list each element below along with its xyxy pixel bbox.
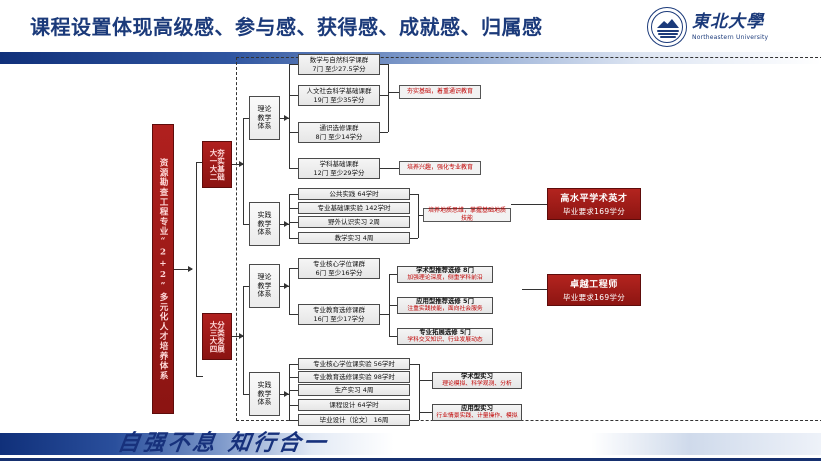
course-box: 生产实习 4周 — [298, 384, 410, 396]
elective-module-box: 学术型推荐选修 8门 加强理论深度，侧重学科前沿 — [397, 266, 493, 283]
outcome-sub: 毕业要求169学分 — [563, 292, 625, 303]
connector — [410, 194, 418, 195]
course-box: 公共实践 64学时 — [298, 188, 410, 200]
connector — [380, 95, 388, 96]
footer-motto: 自强不息 知行合一 — [116, 425, 331, 457]
elective-module-box: 专业拓展选修 5门 学科交叉知识、行业发展动态 — [397, 328, 493, 345]
stage-2-col-right: 大三大四 — [210, 321, 218, 353]
course-box: 教学实习 4周 — [298, 232, 410, 244]
course-group-box: 学科基础课群 12门 至少29学分 — [298, 158, 380, 179]
system-label: 实践 教学 体系 — [258, 381, 272, 407]
connector — [289, 377, 298, 378]
connector — [289, 194, 290, 238]
course-group-box: 数学与自然科学课群 7门 至少27.5学分 — [298, 54, 380, 75]
system-theory-stage1: 理论 教学 体系 — [249, 96, 280, 140]
connector — [289, 390, 298, 391]
module-note: 行业情景实践、计量操作、模拟 — [436, 413, 517, 421]
outcome-sub: 毕业要求169学分 — [563, 206, 625, 217]
system-theory-stage2: 理论 教学 体系 — [249, 264, 280, 308]
connector — [289, 168, 298, 169]
system-label: 实践 教学 体系 — [258, 211, 272, 237]
annotation-box: 夯实基础，着重通识教育 — [399, 85, 481, 99]
connector — [389, 274, 397, 275]
connector — [289, 222, 298, 223]
connector-arrow — [188, 266, 193, 272]
connector — [388, 92, 399, 93]
course-box: 专业教育选修课实验 98学时 — [298, 371, 410, 383]
connector — [419, 412, 432, 413]
connector — [522, 289, 547, 290]
course-box: 专业基础课实验 142学时 — [298, 202, 410, 214]
connector — [196, 162, 197, 376]
course-group-box: 人文社会科学基础课群 19门 至少35学分 — [298, 85, 380, 106]
course-box: 野外认识实习 2周 — [298, 216, 410, 228]
connector — [289, 268, 298, 269]
connector — [388, 64, 389, 132]
connector — [380, 132, 388, 133]
diagram-canvas: 资源勘查工程专业“2+2”多元化人才培养体系 夯实基础 大一大二 分类发展 大三… — [0, 64, 821, 426]
outcome-title: 高水平学术英才 — [560, 191, 627, 204]
connector — [410, 420, 419, 421]
module-title: 学术型推荐选修 8门 — [416, 266, 474, 275]
system-label: 理论 教学 体系 — [258, 105, 272, 131]
connector — [289, 64, 290, 168]
module-title: 学术型实习 — [461, 372, 493, 381]
module-title: 应用型实习 — [461, 404, 493, 413]
connector — [410, 364, 419, 365]
connector — [289, 132, 298, 133]
connector — [289, 238, 298, 239]
connector — [243, 118, 244, 224]
slide-header: 课程设置体现高级感、参与感、获得感、成就感、归属感 東北大學 Northeast… — [0, 0, 821, 52]
connector — [511, 204, 547, 205]
stage-1-col-right: 大一大二 — [210, 149, 218, 181]
connector — [380, 314, 389, 315]
connector — [419, 380, 432, 381]
course-group-box: 专业核心学位课群 6门 至少16学分 — [298, 258, 380, 279]
logo-name-en: Northeastern University — [692, 34, 768, 41]
stage-box-1: 夯实基础 大一大二 — [202, 141, 232, 188]
connector — [289, 64, 298, 65]
stage-box-2: 分类发展 大三大四 — [202, 313, 232, 360]
program-root-box: 资源勘查工程专业“2+2”多元化人才培养体系 — [152, 124, 174, 414]
connector — [380, 64, 388, 65]
course-box: 课程设计 64学时 — [298, 399, 410, 411]
module-note: 加强理论深度，侧重学科前沿 — [407, 275, 482, 283]
course-box: 专业核心学位课实验 56学时 — [298, 358, 410, 370]
system-practice-stage1: 实践 教学 体系 — [249, 202, 280, 246]
university-seal-icon — [647, 7, 687, 47]
module-note: 理论模拟、科学观测、分析 — [442, 381, 512, 389]
connector — [289, 95, 298, 96]
connector — [289, 405, 298, 406]
connector — [196, 376, 203, 377]
outcome-title: 卓越工程师 — [570, 277, 618, 290]
outcome-box-academic: 高水平学术英才 毕业要求169学分 — [547, 188, 641, 220]
connector — [243, 286, 244, 394]
connector — [410, 238, 418, 239]
university-logo: 東北大學 Northeastern University — [647, 5, 807, 49]
stage-2-col-left: 分类发展 — [217, 321, 225, 353]
annotation-box: 培养地质思维，掌握基础地质技能 — [423, 208, 511, 222]
connector — [380, 168, 399, 169]
connector — [289, 268, 290, 314]
stage-1-col-left: 夯实基础 — [217, 149, 225, 181]
connector — [389, 336, 397, 337]
logo-name-cn: 東北大學 — [692, 13, 768, 32]
annotation-box: 培养兴趣，强化专业教育 — [399, 161, 481, 175]
module-title: 专业拓展选修 5门 — [419, 328, 470, 337]
connector — [289, 364, 290, 420]
connector — [389, 305, 397, 306]
connector — [289, 314, 298, 315]
system-label: 理论 教学 体系 — [258, 273, 272, 299]
connector — [289, 420, 298, 421]
system-practice-stage2: 实践 教学 体系 — [249, 372, 280, 416]
internship-module-box: 学术型实习 理论模拟、科学观测、分析 — [432, 372, 522, 389]
module-title: 应用型推荐选修 5门 — [416, 297, 474, 306]
connector — [289, 194, 298, 195]
internship-module-box: 应用型实习 行业情景实践、计量操作、模拟 — [432, 404, 522, 421]
elective-module-box: 应用型推荐选修 5门 注重实践技能，面向社会服务 — [397, 297, 493, 314]
course-group-box: 专业教育选修课群 16门 至少17学分 — [298, 304, 380, 325]
connector — [289, 208, 298, 209]
outcome-box-engineer: 卓越工程师 毕业要求169学分 — [547, 274, 641, 306]
module-note: 注重实践技能，面向社会服务 — [407, 306, 482, 314]
course-group-box: 通识选修课群 8门 至少14学分 — [298, 122, 380, 143]
module-note: 学科交叉知识、行业发展动态 — [407, 337, 482, 345]
connector — [289, 364, 298, 365]
page-title: 课程设置体现高级感、参与感、获得感、成就感、归属感 — [30, 11, 543, 40]
